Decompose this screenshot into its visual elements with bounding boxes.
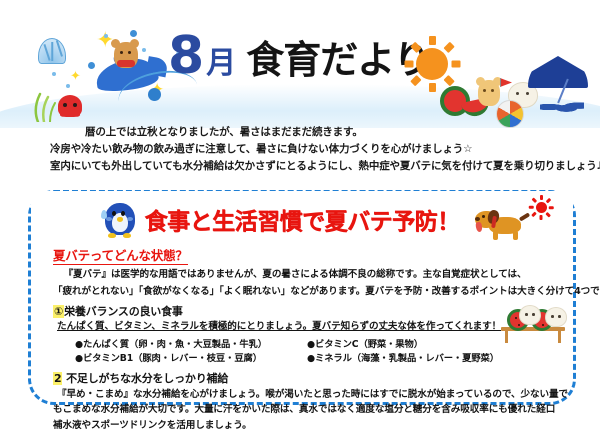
section-1-number: ① [53, 305, 64, 318]
section-2-body-line-2: もこまめな水分補給が大切です。大量に汗をかいた際は、真水ではなく適度な塩分と糖分… [53, 404, 555, 415]
intro-line-3: 室内にいても外出していても水分補給は欠かさずにとるようにし、熱中症や夏バテに気を… [22, 158, 578, 175]
dot-icon [142, 48, 146, 52]
title-month-number: 8 [168, 30, 203, 82]
sub-heading-wrap: 夏バテってどんな状態？ [53, 245, 559, 265]
section-2-body-line-1: 『早め・こまめ』な水分補給を心がけましょう。喉が渇いたと思った時にはすでに脱水が… [57, 389, 568, 400]
dot-icon [130, 30, 137, 37]
intro-text-block: 暦の上では立秋となりましたが、暑さはまだまだ続きます。 冷房や冷たい飲み物の飲み… [0, 124, 600, 175]
bear-cub-icon [478, 80, 500, 106]
section-2-title-text: 不足しがちな水分をしっかり補給 [66, 372, 228, 385]
main-content-panel: 食事と生活習慣で夏バテ予防！ 夏バテってどんな状態？ [28, 190, 576, 405]
dot-icon [66, 84, 70, 88]
list-item: ●ミネラル（海藻・乳製品・レバー・夏野菜） [307, 352, 539, 366]
section-2-body-line-3: 補水液やスポーツドリンクを活用しましょう。 [53, 420, 252, 431]
flag-icon [500, 78, 512, 87]
section-1-lead: たんぱく質、ビタミン、ミネラルを積極的にとりましょう。夏バテ知らずの丈夫な体を作… [53, 320, 559, 334]
section-1-title: ①栄養バランスの良い食事 [53, 305, 559, 319]
section-1-title-text: 栄養バランスの良い食事 [64, 305, 183, 318]
intro-paragraph-2: 「疲れがとれない」「食欲がなくなる」「よく眠れない」などがあります。夏バテを予防… [53, 284, 559, 299]
shell-icon [38, 38, 66, 64]
sheep-icon [519, 305, 541, 325]
intro-line-1: 暦の上では立秋となりましたが、暑さはまだまだ続きます。 [22, 124, 578, 141]
intro-paragraph: 『夏バテ』は医学的な用語ではありませんが、夏の暑さによる体調不良の総称です。主な… [53, 267, 559, 282]
list-item: ●たんぱく質（卵・肉・魚・大豆製品・牛乳） [75, 338, 307, 352]
dot-icon [104, 34, 108, 38]
dot-icon [52, 72, 56, 76]
hot-sun-icon [529, 195, 553, 219]
intro-line-2: 冷房や冷たい飲み物の飲み過ぎに注意して、暑さに負けない体力づくりを心がけましょう… [22, 141, 578, 158]
beach-umbrella-icon [528, 56, 588, 88]
section-1-lead-text: たんぱく質、ビタミン、ミネラルを積極的にとりましょう。夏バテ知らずの丈夫な体を作… [57, 321, 501, 332]
page-title: 8 月 食育だより [168, 30, 430, 82]
section-2-body-2: もこまめな水分補給が大切です。大量に汗をかいた際は、真水ではなく適度な塩分と糖分… [53, 403, 559, 417]
list-item: ●ビタミンB1（豚肉・レバー・枝豆・豆腐） [75, 352, 307, 366]
title-month-kanji: 月 [206, 49, 236, 79]
bench-watermelon-icon [501, 305, 571, 345]
dog-icon [475, 207, 527, 239]
panel-content: 夏バテってどんな状態？ 『夏バテ』は医学的な用語ではありませんが、夏の暑さによる… [53, 245, 559, 433]
section-2-number: 2 [53, 372, 62, 385]
para-line-2: 「疲れがとれない」「食欲がなくなる」「よく眠れない」などがあります。夏バテを予防… [53, 286, 600, 297]
bear-icon [114, 42, 138, 68]
newsletter-header: 8 月 食育だより [0, 0, 600, 128]
penguin-icon [103, 201, 137, 237]
title-main-text: 食育だより [246, 41, 430, 79]
section-2-body-3: 補水液やスポーツドリンクを活用しましょう。 [53, 419, 559, 433]
bullet-column-left: ●たんぱく質（卵・肉・魚・大豆製品・牛乳） ●ビタミンB1（豚肉・レバー・枝豆・… [75, 338, 307, 367]
sun-icon [404, 36, 460, 92]
sub-heading: 夏バテってどんな状態？ [53, 248, 188, 265]
seaweed-icon [30, 88, 60, 122]
section-1-bullets: ●たんぱく質（卵・肉・魚・大豆製品・牛乳） ●ビタミンB1（豚肉・レバー・枝豆・… [53, 338, 559, 367]
octopus-icon [58, 95, 82, 117]
para-line-1: 『夏バテ』は医学的な用語ではありませんが、夏の暑さによる体調不良の総称です。主な… [64, 269, 527, 280]
section-2-title: 2 不足しがちな水分をしっかり補給 [53, 372, 559, 386]
panel-title: 食事と生活習慣で夏バテ予防！ [145, 202, 460, 236]
sheep-icon [545, 307, 567, 327]
dot-icon [88, 62, 95, 69]
